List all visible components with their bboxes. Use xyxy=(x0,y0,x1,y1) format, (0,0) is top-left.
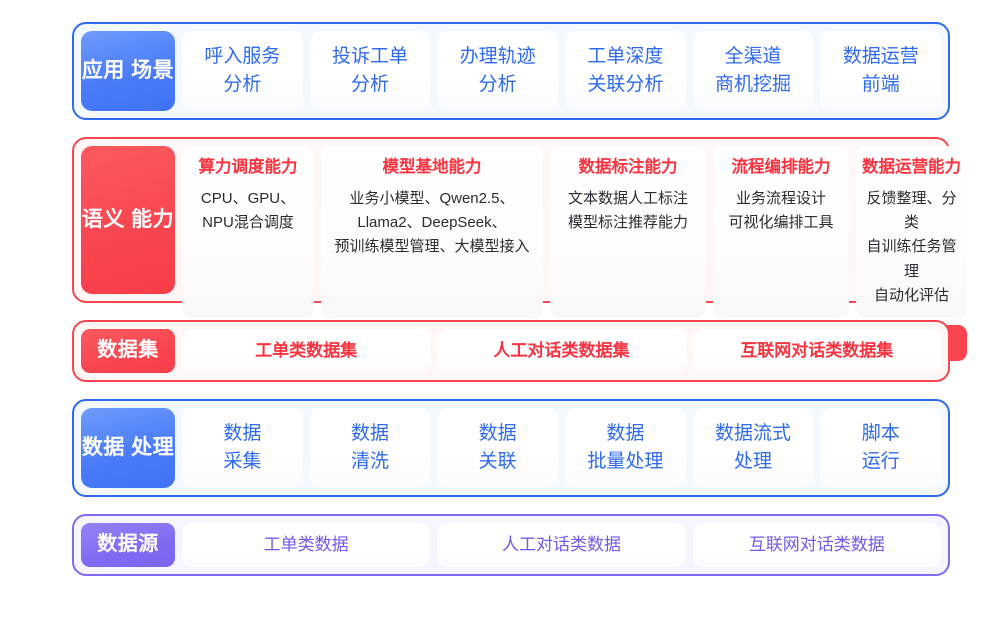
capability-card[interactable]: 数据标注能力 文本数据人工标注 模型标注推荐能力 xyxy=(550,146,706,318)
capability-card-body: 反馈整理、分类 自训练任务管理 自动化评估 xyxy=(862,187,961,308)
application-card[interactable]: 呼入服务 分析 xyxy=(182,31,303,111)
application-card[interactable]: 全渠道 商机挖掘 xyxy=(693,31,814,111)
application-card-label: 数据运营 前端 xyxy=(843,43,919,98)
data-processing-card[interactable]: 数据 批量处理 xyxy=(565,408,686,488)
dataset-cards: 工单类数据集 人工对话类数据集 互联网对话类数据集 xyxy=(182,329,941,373)
capability-card-title: 数据运营能力 xyxy=(862,158,961,178)
data-processing-card[interactable]: 数据 采集 xyxy=(182,408,303,488)
capability-card[interactable]: 模型基地能力 业务小模型、Qwen2.5、 Llama2、DeepSeek、 预… xyxy=(321,146,543,318)
data-processing-card[interactable]: 数据 关联 xyxy=(437,408,558,488)
data-processing-cards: 数据 采集 数据 清洗 数据 关联 数据 批量处理 数据流式 处理 脚本 运行 xyxy=(182,408,941,488)
capability-card-title: 算力调度能力 xyxy=(199,158,298,178)
capability-card-title: 流程编排能力 xyxy=(732,158,831,178)
application-card[interactable]: 数据运营 前端 xyxy=(820,31,941,111)
architecture-diagram: 应用 场景 呼入服务 分析 投诉工单 分析 办理轨迹 分析 工单深度 关联分析 … xyxy=(0,0,1000,620)
row-application-scenarios: 应用 场景 呼入服务 分析 投诉工单 分析 办理轨迹 分析 工单深度 关联分析 … xyxy=(72,22,950,120)
data-source-card-label: 人工对话类数据 xyxy=(502,533,621,558)
dataset-card[interactable]: 互联网对话类数据集 xyxy=(693,329,941,373)
capability-card[interactable]: 流程编排能力 业务流程设计 可视化编排工具 xyxy=(713,146,849,318)
semantic-capability-content: 算力调度能力 CPU、GPU、 NPU混合调度 模型基地能力 业务小模型、Qwe… xyxy=(182,146,967,294)
data-processing-card-label: 数据 采集 xyxy=(223,420,261,475)
row-label-application-scenarios: 应用 场景 xyxy=(81,31,175,111)
row-label-dataset: 数据集 xyxy=(81,329,175,373)
data-source-card[interactable]: 人工对话类数据 xyxy=(437,523,685,567)
row-data-processing: 数据 处理 数据 采集 数据 清洗 数据 关联 数据 批量处理 数据流式 处理 … xyxy=(72,399,950,497)
capability-cards: 算力调度能力 CPU、GPU、 NPU混合调度 模型基地能力 业务小模型、Qwe… xyxy=(182,146,967,318)
dataset-card-label: 人工对话类数据集 xyxy=(493,339,629,364)
data-processing-card-label: 数据 关联 xyxy=(479,420,517,475)
capability-card-body: 业务流程设计 可视化编排工具 xyxy=(728,187,833,236)
dataset-card-label: 互联网对话类数据集 xyxy=(740,339,893,364)
row-data-source: 数据源 工单类数据 人工对话类数据 互联网对话类数据 xyxy=(72,514,950,576)
row-label-data-source: 数据源 xyxy=(81,523,175,567)
row-dataset: 数据集 工单类数据集 人工对话类数据集 互联网对话类数据集 xyxy=(72,320,950,382)
capability-card-title: 数据标注能力 xyxy=(579,158,678,178)
application-scenario-cards: 呼入服务 分析 投诉工单 分析 办理轨迹 分析 工单深度 关联分析 全渠道 商机… xyxy=(182,31,941,111)
data-processing-card[interactable]: 脚本 运行 xyxy=(820,408,941,488)
data-processing-card-label: 数据 清洗 xyxy=(351,420,389,475)
data-processing-card[interactable]: 数据流式 处理 xyxy=(693,408,814,488)
row-label-semantic-capability: 语义 能力 xyxy=(81,146,175,294)
row-semantic-capability: 语义 能力 算力调度能力 CPU、GPU、 NPU混合调度 模型基地能力 业务小… xyxy=(72,137,950,303)
data-source-card[interactable]: 互联网对话类数据 xyxy=(693,523,941,567)
application-card[interactable]: 工单深度 关联分析 xyxy=(565,31,686,111)
data-processing-card-label: 数据 批量处理 xyxy=(587,420,663,475)
application-card-label: 呼入服务 分析 xyxy=(204,43,280,98)
row-label-data-processing: 数据 处理 xyxy=(81,408,175,488)
application-card-label: 全渠道 商机挖掘 xyxy=(715,43,791,98)
capability-card-body: 业务小模型、Qwen2.5、 Llama2、DeepSeek、 预训练模型管理、… xyxy=(334,187,529,260)
data-source-card-label: 互联网对话类数据 xyxy=(749,533,885,558)
application-card-label: 投诉工单 分析 xyxy=(332,43,408,98)
data-source-cards: 工单类数据 人工对话类数据 互联网对话类数据 xyxy=(182,523,941,567)
capability-card-title: 模型基地能力 xyxy=(383,158,482,178)
data-source-card[interactable]: 工单类数据 xyxy=(182,523,430,567)
dataset-card-label: 工单类数据集 xyxy=(255,339,357,364)
capability-card[interactable]: 算力调度能力 CPU、GPU、 NPU混合调度 xyxy=(182,146,314,318)
application-card[interactable]: 办理轨迹 分析 xyxy=(437,31,558,111)
data-processing-card[interactable]: 数据 清洗 xyxy=(310,408,431,488)
application-card-label: 办理轨迹 分析 xyxy=(460,43,536,98)
data-source-card-label: 工单类数据 xyxy=(264,533,349,558)
dataset-card[interactable]: 工单类数据集 xyxy=(182,329,430,373)
application-card[interactable]: 投诉工单 分析 xyxy=(310,31,431,111)
capability-card-body: CPU、GPU、 NPU混合调度 xyxy=(201,187,295,236)
capability-card[interactable]: 数据运营能力 反馈整理、分类 自训练任务管理 自动化评估 xyxy=(856,146,967,318)
data-processing-card-label: 脚本 运行 xyxy=(862,420,900,475)
capability-card-body: 文本数据人工标注 模型标注推荐能力 xyxy=(568,187,688,236)
data-processing-card-label: 数据流式 处理 xyxy=(715,420,791,475)
application-card-label: 工单深度 关联分析 xyxy=(587,43,663,98)
dataset-card[interactable]: 人工对话类数据集 xyxy=(437,329,685,373)
